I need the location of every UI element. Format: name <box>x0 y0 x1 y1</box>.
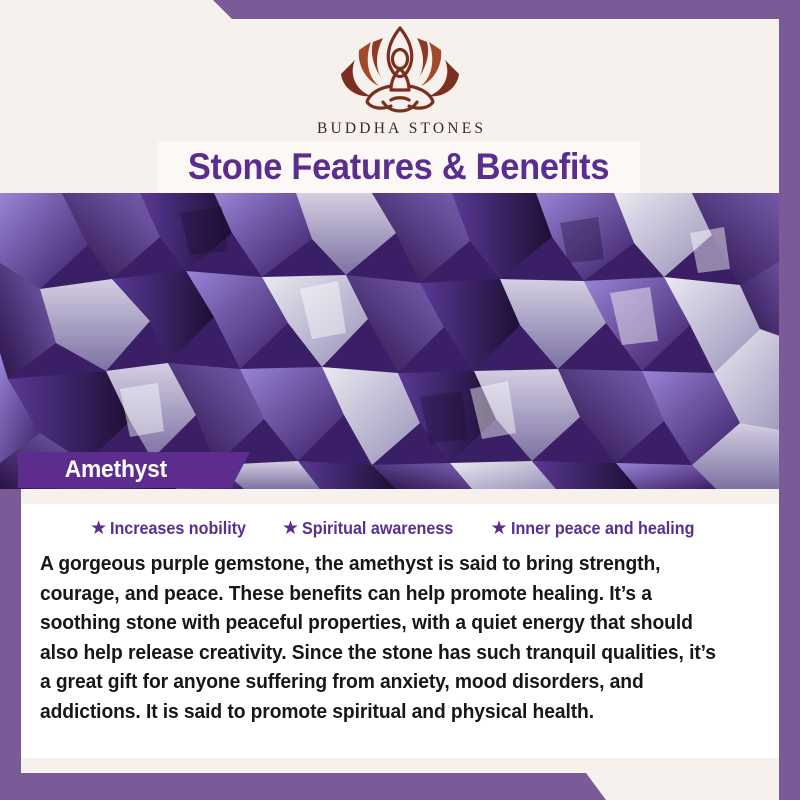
star-icon: ★ <box>90 519 107 538</box>
brand-logo: BUDDHA STONES <box>0 22 800 138</box>
benefit-label-2: Spiritual awareness <box>302 518 453 539</box>
decor-left-band <box>0 489 21 800</box>
benefit-label-1: Increases nobility <box>110 518 246 539</box>
decor-top-right-band <box>213 0 800 19</box>
stone-description-text: A gorgeous purple gemstone, the amethyst… <box>40 549 719 726</box>
benefit-item-2: ★ Spiritual awareness <box>282 518 466 539</box>
stone-name-badge: Amethyst <box>18 452 250 488</box>
benefit-item-1: ★ Increases nobility <box>90 518 258 539</box>
infographic-page: BUDDHA STONES Stone Features & Benefits … <box>0 0 800 800</box>
lotus-meditation-icon <box>325 22 475 118</box>
page-title: Stone Features & Benefits <box>188 146 609 188</box>
hero-divider-strip <box>0 489 800 504</box>
description-card: ★ Increases nobility ★ Spiritual awarene… <box>21 504 779 758</box>
stone-name-label: Amethyst <box>65 456 167 484</box>
benefit-item-3: ★ Inner peace and healing <box>490 518 709 539</box>
star-icon: ★ <box>282 519 299 538</box>
star-icon: ★ <box>490 519 507 538</box>
benefit-label-3: Inner peace and healing <box>511 518 694 539</box>
brand-name: BUDDHA STONES <box>0 120 800 138</box>
benefits-list: ★ Increases nobility ★ Spiritual awarene… <box>21 504 779 539</box>
amethyst-hero-image <box>0 193 800 489</box>
amethyst-crystal-illustration <box>0 193 800 489</box>
decor-bottom-left-band <box>0 773 606 800</box>
page-title-band: Stone Features & Benefits <box>158 141 640 193</box>
decor-right-band <box>779 0 800 800</box>
